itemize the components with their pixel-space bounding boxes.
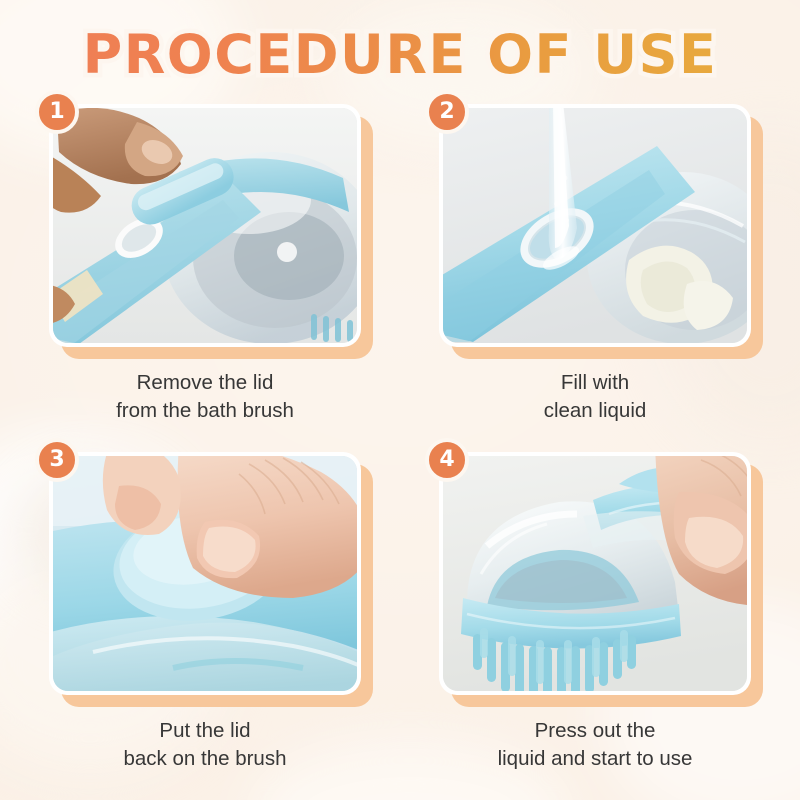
page-title-text: PROCEDURE OF USE: [83, 23, 718, 86]
step-photo-1: [53, 108, 357, 343]
step-caption-3-line2: back on the brush: [49, 745, 361, 773]
steps-grid: 1 Remove the lid from the bath brush: [0, 104, 800, 773]
step-card-4[interactable]: 4 Press out the liquid and start to use: [439, 452, 751, 772]
step-caption-1-line1: Remove the lid: [137, 371, 274, 394]
step-card-2[interactable]: 2 Fill with clean liquid: [439, 104, 751, 424]
step-caption-1-line2: from the bath brush: [49, 397, 361, 425]
step-badge-1: 1: [35, 90, 79, 134]
step-caption-4-line1: Press out the: [535, 719, 656, 742]
step-photo-3: [53, 456, 357, 691]
step-caption-2-line1: Fill with: [561, 371, 629, 394]
step-caption-4-line2: liquid and start to use: [439, 745, 751, 773]
page-title: PROCEDURE OF USE PROCEDURE OF USE: [0, 28, 800, 82]
step-photo-4: [443, 456, 747, 691]
step-badge-2: 2: [425, 90, 469, 134]
steps-row-top: 1 Remove the lid from the bath brush: [0, 104, 800, 424]
step-caption-1: Remove the lid from the bath brush: [49, 369, 361, 424]
step-card-3[interactable]: 3 Put the lid back on the brush: [49, 452, 361, 772]
steps-row-bottom: 3 Put the lid back on the brush: [0, 452, 800, 772]
step-card-1[interactable]: 1 Remove the lid from the bath brush: [49, 104, 361, 424]
step-caption-2: Fill with clean liquid: [439, 369, 751, 424]
step-caption-2-line2: clean liquid: [439, 397, 751, 425]
step-caption-3: Put the lid back on the brush: [49, 717, 361, 772]
step-caption-3-line1: Put the lid: [159, 719, 250, 742]
step-caption-4: Press out the liquid and start to use: [439, 717, 751, 772]
step-photo-2: [443, 108, 747, 343]
